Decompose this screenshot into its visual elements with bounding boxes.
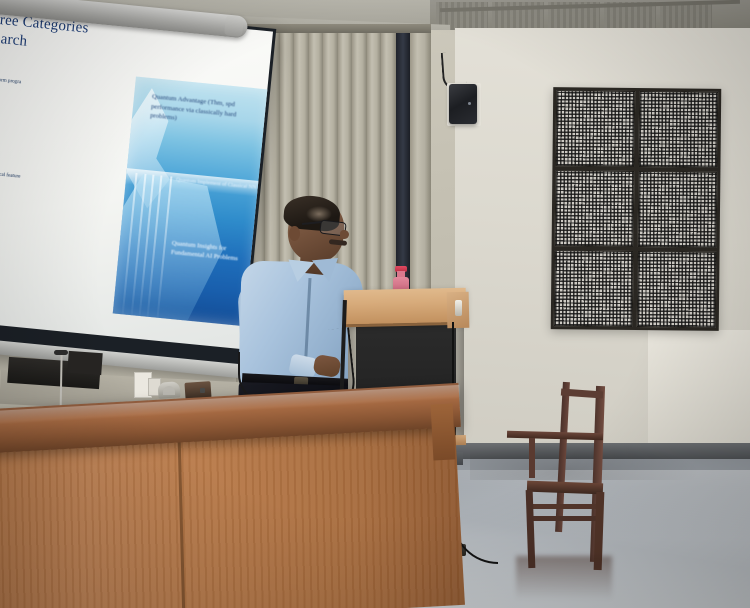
speaker-led-icon: [468, 102, 471, 105]
acoustic-panel: [555, 90, 635, 167]
acoustic-panel: [638, 171, 718, 248]
front-desk-right-edge: [431, 403, 456, 460]
projection-screen-surface: Three Categories esearch representations…: [0, 4, 273, 349]
acoustic-panel: [637, 251, 717, 328]
lecture-hall-scene: Three Categories esearch representations…: [0, 0, 750, 608]
presenter-nose: [340, 230, 349, 239]
back-wall-far: [648, 330, 750, 450]
wall-speaker-icon: [449, 84, 477, 124]
microphone-icon: [54, 350, 68, 355]
desk-clamp-inner: [163, 386, 175, 395]
chair-stretcher: [530, 516, 602, 521]
chair-seat: [527, 481, 603, 495]
chair-back-post: [555, 382, 570, 532]
chair-floor-reflection: [516, 556, 612, 600]
projection-screen[interactable]: Three Categories esearch representations…: [0, 1, 276, 376]
acoustic-panel-grid: [551, 87, 722, 331]
chair-armrest: [507, 431, 603, 441]
chair-stretcher: [529, 504, 601, 509]
av-equipment-secondary: [67, 351, 102, 375]
presentation-slide: Three Categories esearch representations…: [0, 4, 273, 349]
wooden-chair[interactable]: [505, 382, 627, 570]
podium-latch-icon[interactable]: [455, 300, 462, 316]
acoustic-panel: [554, 250, 634, 327]
presenter-ear: [289, 226, 300, 241]
acoustic-panel: [555, 170, 635, 247]
chair-arm-support: [529, 438, 535, 478]
acoustic-panel: [638, 91, 718, 168]
screen-roller-cap: [224, 15, 244, 37]
desk-device-led-icon: [200, 388, 205, 393]
